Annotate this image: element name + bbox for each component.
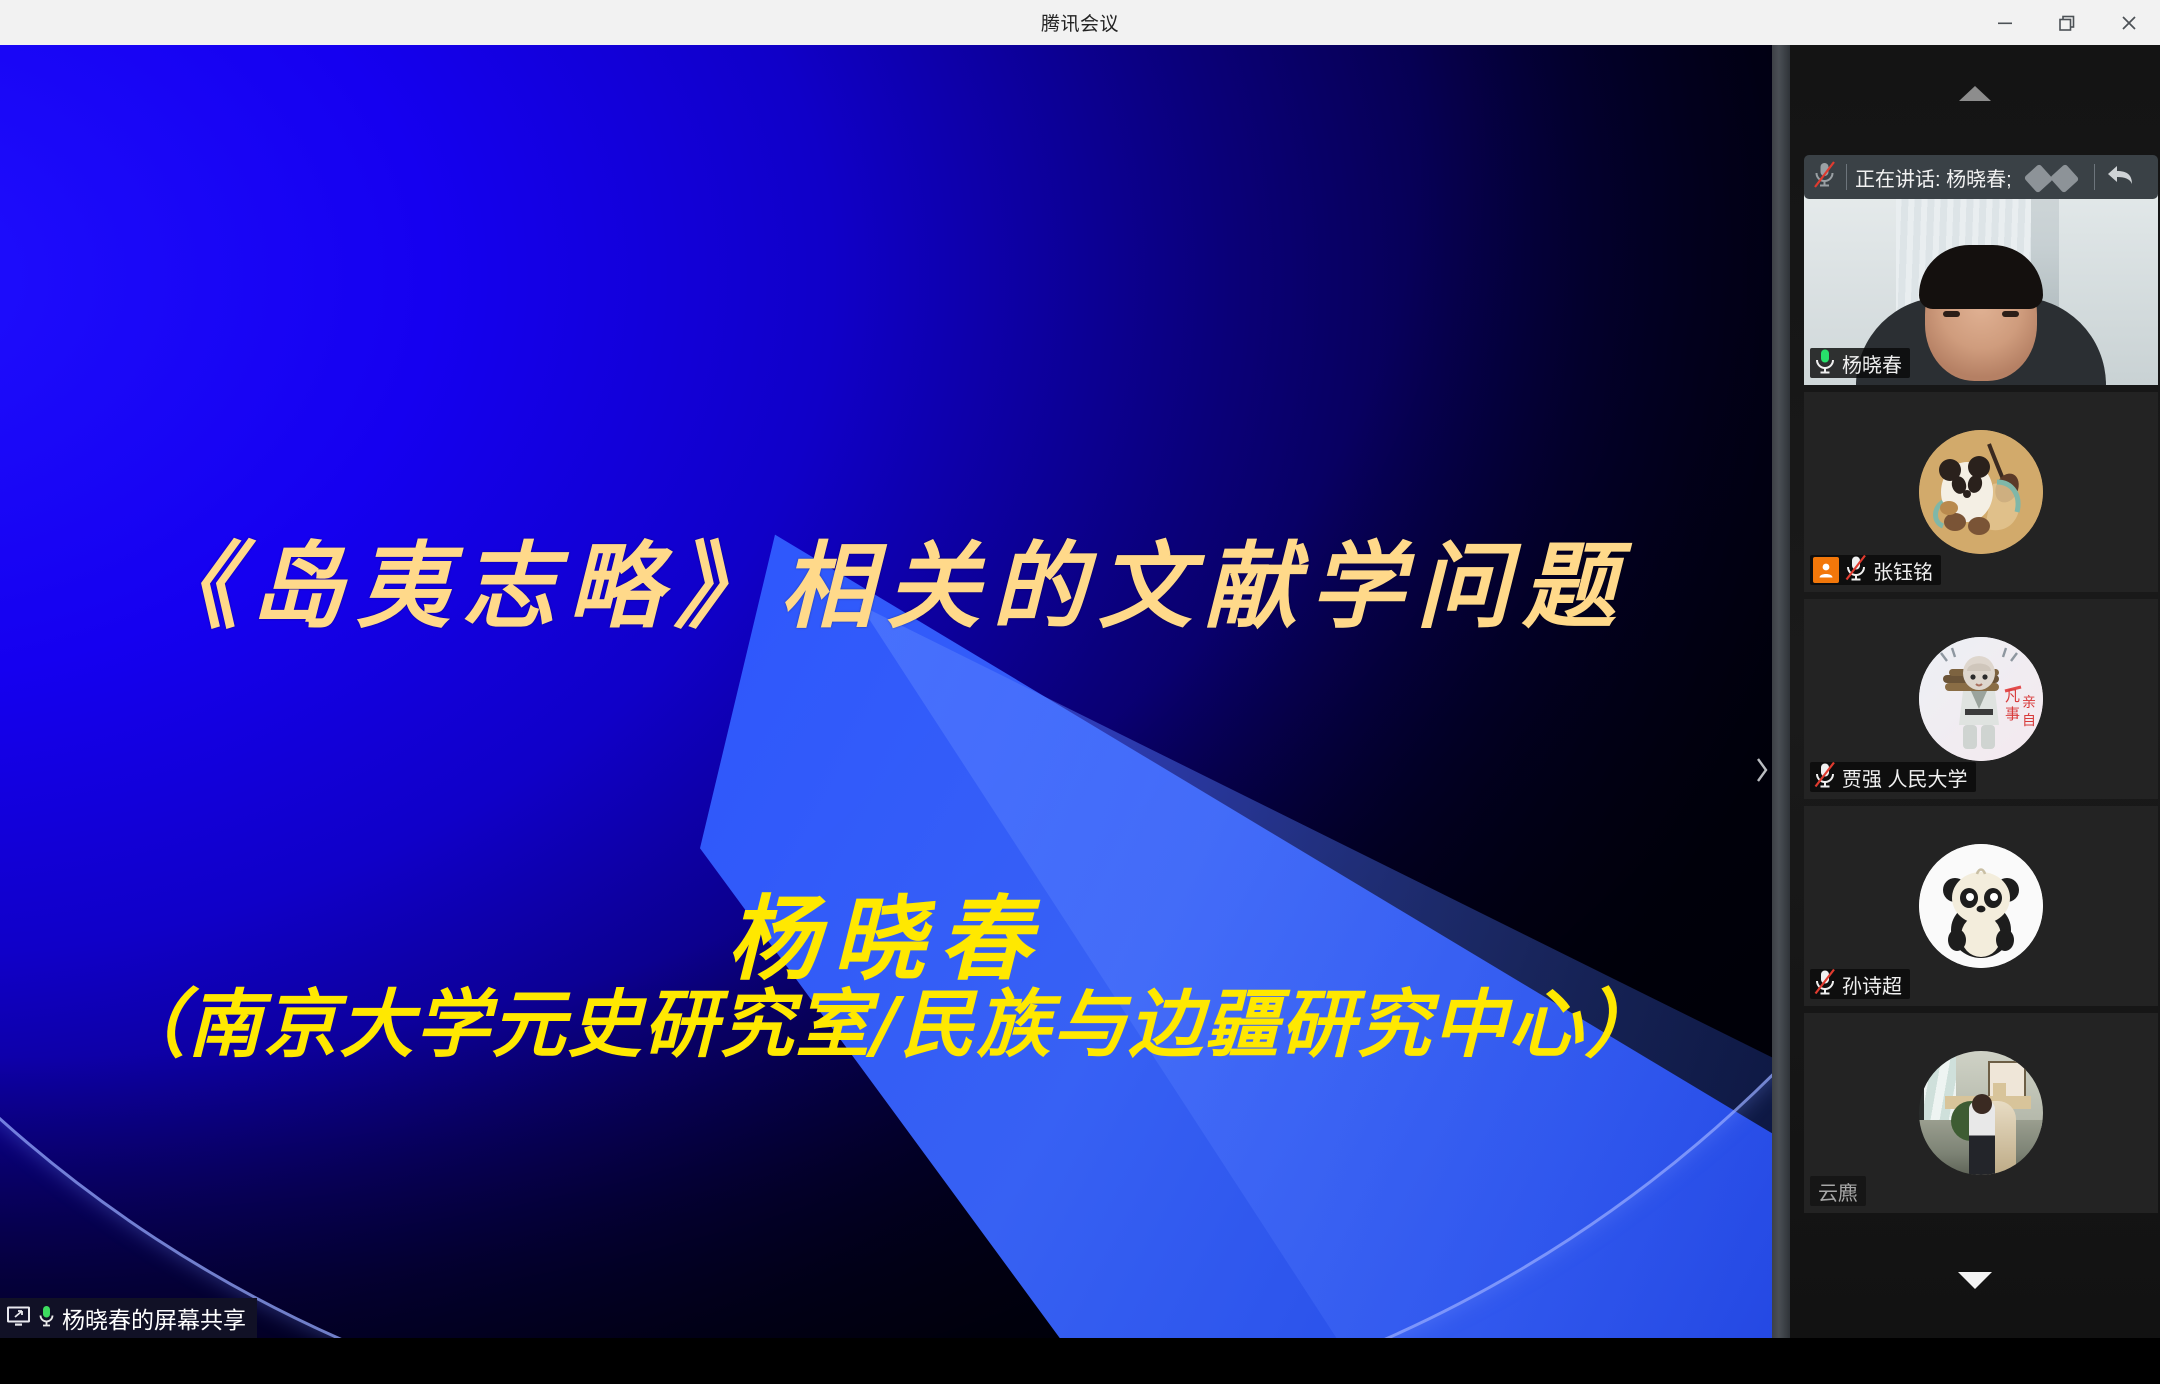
panel-divider[interactable] (1772, 45, 1790, 1338)
monk-carrying-firewood-avatar: 凡 事 亲 自 (1919, 637, 2043, 761)
shared-screen-stage[interactable]: 《岛夷志略》相关的文献学问题 杨晓春 （南京大学元史研究室/民族与边疆研究中心） (0, 45, 1772, 1338)
participant-name: 杨晓春 (1842, 349, 1902, 378)
host-badge-icon (1813, 557, 1839, 583)
participant-tile-yunbiao[interactable]: 云麃 (1804, 1013, 2158, 1213)
tile-nameplate: 孙诗超 (1810, 969, 1910, 999)
microphone-muted-icon (1813, 968, 1837, 1001)
triangle-up-icon (1959, 86, 1991, 101)
room-video-thumbnail (1919, 1051, 2043, 1175)
participant-name: 云麃 (1818, 1177, 1858, 1206)
microphone-muted-icon (1812, 160, 1838, 195)
room-person-head (1972, 1094, 1992, 1114)
reply-arrow-icon[interactable] (2105, 162, 2135, 193)
participant-tile-yangxiaochun[interactable]: 杨晓春 (1804, 185, 2158, 385)
microphone-muted-icon (1813, 761, 1837, 794)
microphone-on-icon (38, 1304, 55, 1333)
microphone-muted-icon (1844, 554, 1868, 587)
scroll-up-button[interactable] (1790, 65, 2160, 121)
participant-name: 孙诗超 (1842, 970, 1902, 999)
participant-tile-zhangyuming[interactable]: 张钰铭 (1804, 392, 2158, 592)
banner-divider-2 (2094, 164, 2095, 190)
participant-tile-jiaqiang[interactable]: 凡 事 亲 自 (1804, 599, 2158, 799)
screen-share-icon (6, 1305, 31, 1332)
participant-name: 贾强 人民大学 (1842, 763, 1968, 792)
triangle-down-icon (1958, 1272, 1992, 1289)
panda-figurine-avatar (1919, 844, 2043, 968)
webcam-person-eye-left (1943, 311, 1960, 317)
svg-text:事: 事 (2005, 705, 2020, 723)
speaking-label: 正在讲话: 杨晓春; (1855, 163, 2012, 192)
tile-nameplate: 杨晓春 (1810, 348, 1910, 378)
window-controls (1974, 0, 2160, 45)
svg-text:自: 自 (2022, 713, 2036, 729)
webcam-person-eye-right (2002, 311, 2019, 317)
tile-nameplate: 贾强 人民大学 (1810, 762, 1976, 792)
slide-text-layer: 《岛夷志略》相关的文献学问题 杨晓春 （南京大学元史研究室/民族与边疆研究中心） (0, 45, 1772, 1338)
tencent-meeting-window: 腾讯会议 《岛夷志略》 (0, 0, 2160, 1384)
presentation-slide: 《岛夷志略》相关的文献学问题 杨晓春 （南京大学元史研究室/民族与边疆研究中心） (0, 45, 1772, 1338)
screen-share-indicator: 杨晓春的屏幕共享 (0, 1298, 257, 1338)
speaking-banner: 正在讲话: 杨晓春; (1804, 155, 2158, 199)
window-titlebar: 腾讯会议 (0, 0, 2160, 45)
banner-divider (1846, 164, 1847, 190)
restore-button[interactable] (2036, 0, 2098, 45)
slide-presenter-affiliation: （南京大学元史研究室/民族与边疆研究中心） (0, 965, 1772, 1072)
svg-text:凡: 凡 (2005, 687, 2020, 705)
close-button[interactable] (2098, 0, 2160, 45)
participant-tile-sunshichao[interactable]: 孙诗超 (1804, 806, 2158, 1006)
scroll-down-button[interactable] (1790, 1252, 2160, 1308)
participant-sidebar: 正在讲话: 杨晓春; (1790, 45, 2160, 1338)
minimize-button[interactable] (1974, 0, 2036, 45)
participant-name: 张钰铭 (1873, 556, 1933, 585)
diamonds-icon (2024, 161, 2086, 193)
chevron-right-icon (1752, 753, 1772, 787)
tile-nameplate: 张钰铭 (1810, 555, 1941, 585)
collapse-sidebar-button[interactable] (1742, 735, 1772, 805)
svg-text:亲: 亲 (2022, 695, 2036, 711)
slide-title: 《岛夷志略》相关的文献学问题 (0, 511, 1772, 647)
room-video-frame (1919, 1051, 2043, 1175)
panda-with-pipa-avatar (1919, 430, 2043, 554)
window-title: 腾讯会议 (1041, 9, 1119, 36)
screen-share-label: 杨晓春的屏幕共享 (62, 1301, 246, 1335)
microphone-on-icon (1813, 347, 1837, 380)
tile-nameplate: 云麃 (1810, 1176, 1866, 1206)
